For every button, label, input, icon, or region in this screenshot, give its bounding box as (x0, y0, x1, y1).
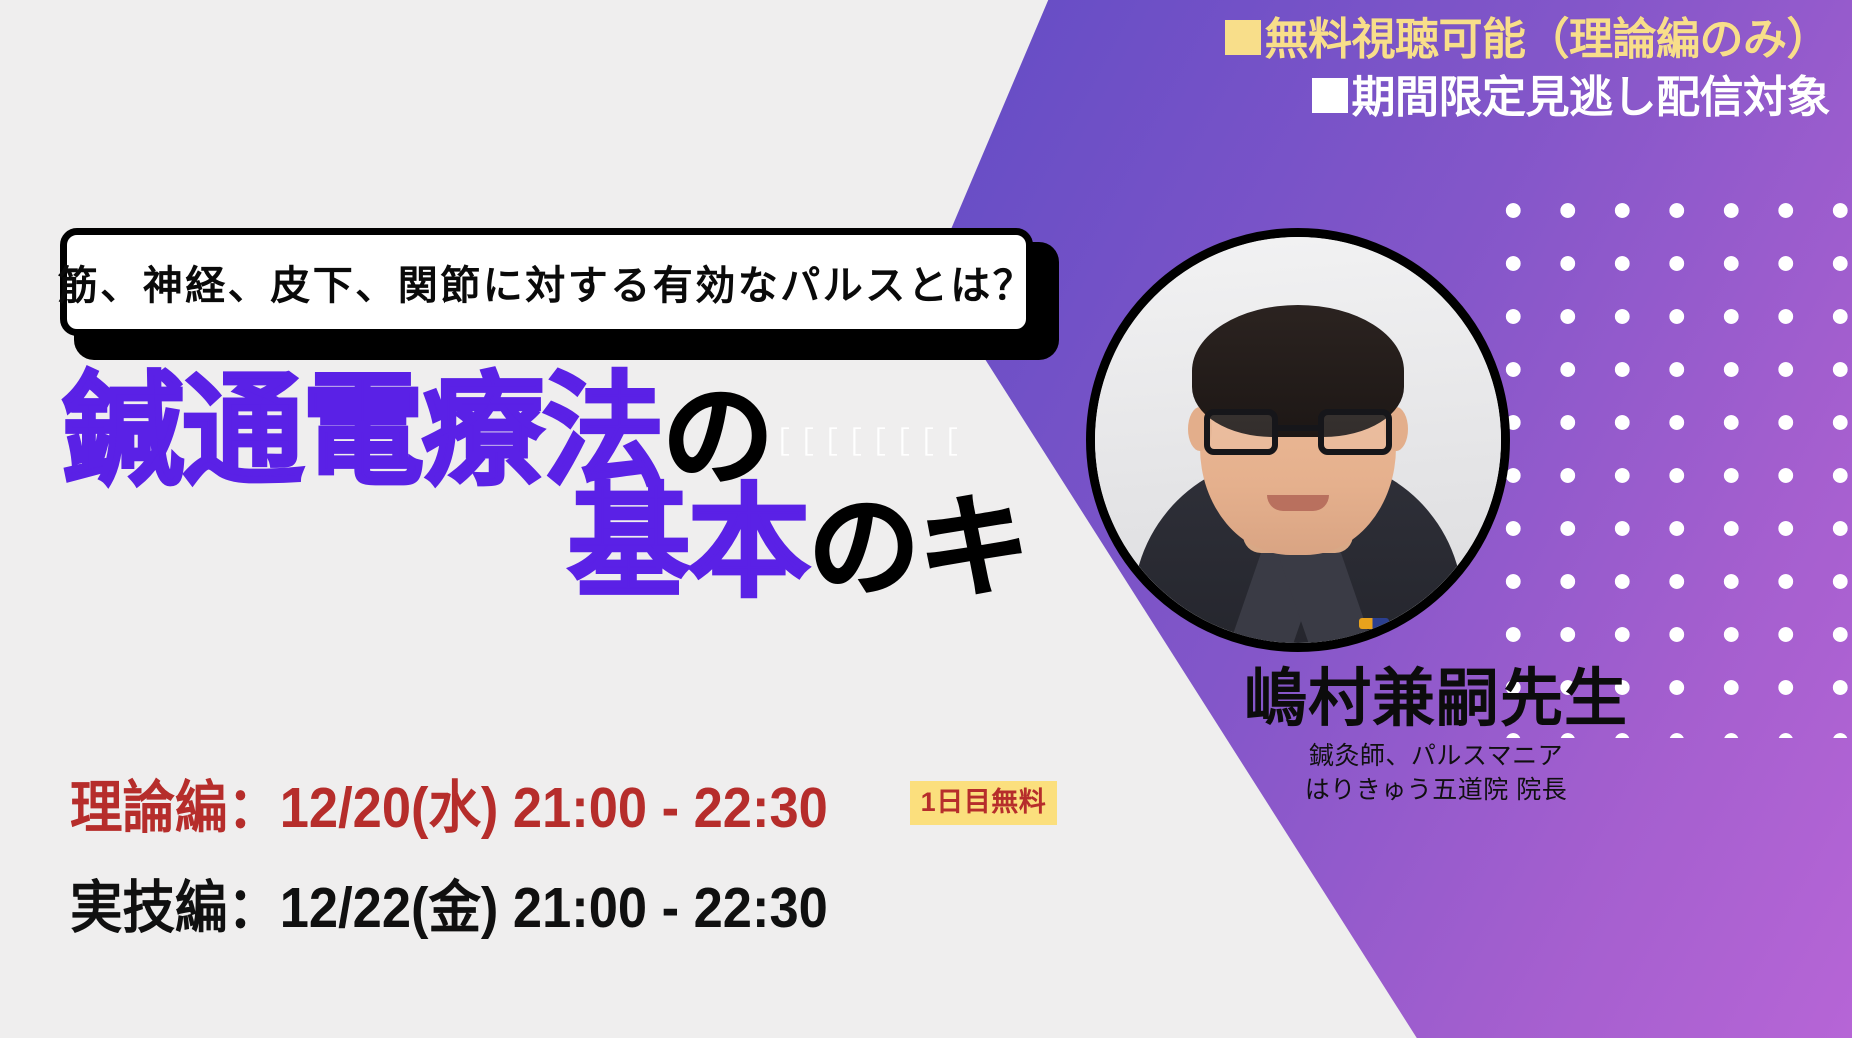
portrait-glasses-bridge (1278, 425, 1318, 431)
square-bullet-icon (1225, 20, 1260, 55)
headline-row1-purple: 鍼通電療法 (62, 372, 662, 492)
speaker-name: 嶋村兼嗣先生 (1086, 666, 1786, 732)
question-ribbon: 筋、神経、皮下、関節に対する有効なパルスとは？ (60, 228, 1033, 336)
schedule-row-practice: 実技編：12/22(金) 21:00 - 22:30 (70, 862, 1130, 944)
headline-block: 鍼通電療法の 基本のキ (62, 372, 1072, 603)
banner-line-archive: 期間限定見逃し配信対象 (1225, 76, 1830, 120)
banner-line-1-text: 無料視聴可能（理論編のみ） (1265, 15, 1831, 64)
poster-canvas: 無料視聴可能（理論編のみ） 期間限定見逃し配信対象 筋、神経、皮下、関節に対する… (0, 0, 1852, 1038)
headline-row-1: 鍼通電療法の (62, 372, 1072, 492)
portrait-lens-left (1204, 409, 1278, 455)
portrait-glasses-icon (1204, 409, 1392, 457)
schedule-theory-label: 理論編：12/20(水) 21:00 - 22:30 (70, 762, 828, 844)
headline-row2-black: のキ (808, 493, 1028, 603)
ribbon-text: 筋、神経、皮下、関節に対する有効なパルスとは？ (58, 253, 1036, 311)
banner-line-2-text: 期間限定見逃し配信対象 (1352, 73, 1831, 122)
speaker-portrait (1086, 228, 1510, 652)
portrait-lens-right (1318, 409, 1392, 455)
dot-grid-decoration (1480, 178, 1852, 738)
headline-row2-purple: 基本 (568, 484, 808, 604)
schedule-block: 理論編：12/20(水) 21:00 - 22:30 1日目無料 実技編：12/… (70, 762, 1130, 944)
speaker-credential-1: 鍼灸師、パルスマニア (1086, 740, 1786, 774)
free-first-day-badge: 1日目無料 (910, 781, 1058, 825)
square-bullet-icon (1312, 78, 1347, 113)
portrait-brand-logo (1359, 618, 1389, 629)
headline-row-2: 基本のキ (62, 484, 1072, 604)
speaker-credential-2: はりきゅう五道院 院長 (1086, 774, 1786, 808)
top-banner: 無料視聴可能（理論編のみ） 期間限定見逃し配信対象 (1225, 18, 1830, 120)
ribbon-box: 筋、神経、皮下、関節に対する有効なパルスとは？ (60, 228, 1033, 336)
schedule-practice-label: 実技編：12/22(金) 21:00 - 22:30 (70, 862, 828, 944)
speaker-info: 嶋村兼嗣先生 鍼灸師、パルスマニア はりきゅう五道院 院長 (1086, 666, 1786, 808)
banner-line-free-viewing: 無料視聴可能（理論編のみ） (1225, 18, 1830, 62)
portrait-circle (1086, 228, 1510, 652)
portrait-mouth (1267, 495, 1329, 511)
schedule-row-theory: 理論編：12/20(水) 21:00 - 22:30 1日目無料 (70, 762, 1130, 844)
